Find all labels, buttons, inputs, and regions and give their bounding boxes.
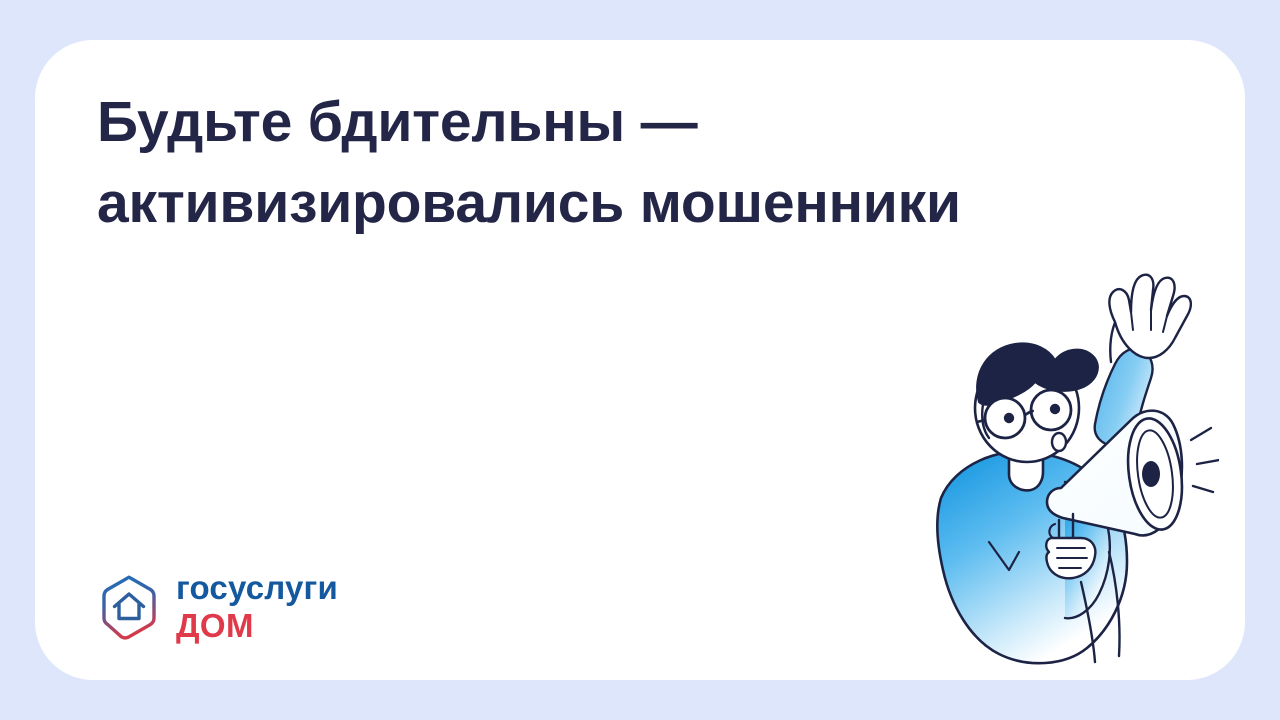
content-card: Будьте бдительны — активизировались моше… xyxy=(35,40,1245,680)
logo-wordmark: госуслуги ДОМ xyxy=(176,571,338,642)
logo-word-gosuslugi: госуслуги xyxy=(176,571,338,604)
person-with-megaphone-illustration xyxy=(859,252,1219,672)
page-title: Будьте бдительны — активизировались моше… xyxy=(97,82,1097,244)
hexagon-house-icon xyxy=(98,573,160,641)
brand-logo[interactable]: госуслуги ДОМ xyxy=(98,571,338,642)
slide-canvas: Будьте бдительны — активизировались моше… xyxy=(0,0,1280,720)
logo-word-dom: ДОМ xyxy=(176,609,338,642)
